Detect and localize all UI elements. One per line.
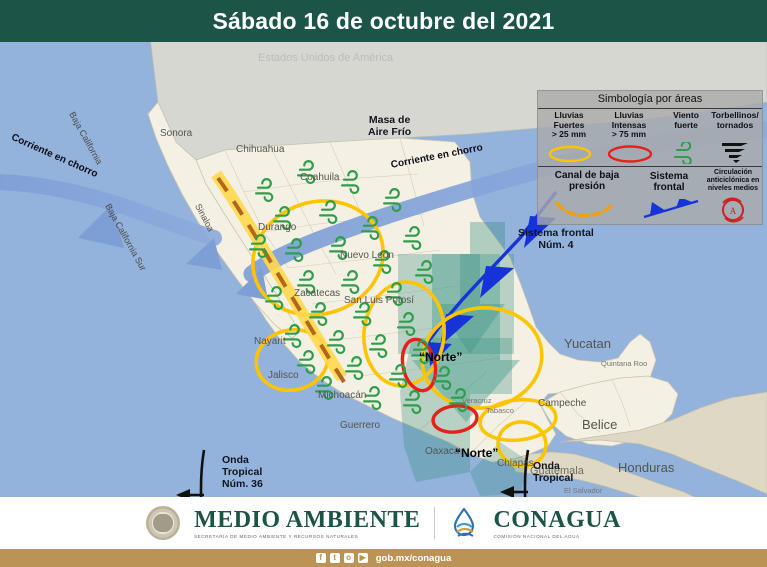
conagua-drop-icon [449, 507, 479, 539]
tornado-icon [720, 139, 750, 163]
twitter-glyph: t [330, 553, 340, 563]
footer-divider [434, 507, 435, 539]
legend-item-canal-baja-presion[interactable]: Canal de baja presión [540, 170, 634, 192]
yellow-ellipse-icon [548, 145, 592, 163]
ministry-logo: MEDIO AMBIENTE SECRETARÍA DE MEDIO AMBIE… [194, 508, 420, 539]
legend-row-bottom: Canal de baja presión Sistema frontal [538, 167, 762, 225]
legend-item-torbellinos-line2: tornados [710, 121, 760, 131]
legend-item-viento-fuerte[interactable]: Viento fuerte [662, 111, 710, 130]
agency-logo: CONAGUA COMISIÓN NACIONAL DEL AGUA [493, 508, 621, 539]
ministry-subtitle: SECRETARÍA DE MEDIO AMBIENTE Y RECURSOS … [194, 534, 420, 539]
legend-panel: Simbología por áreas Lluvias Fuertes > 2… [537, 90, 763, 225]
facebook-glyph: f [316, 553, 326, 563]
instagram-icon[interactable]: o [344, 553, 354, 563]
page-title: Sábado 16 de octubre del 2021 [0, 0, 767, 42]
red-ellipse-icon [607, 145, 653, 163]
youtube-glyph: ▶ [358, 553, 368, 563]
legend-item-sistema-frontal[interactable]: Sistema frontal [634, 171, 704, 193]
social-bar: f t o ▶ gob.mx/conagua [0, 549, 767, 567]
ministry-title: MEDIO AMBIENTE [194, 508, 420, 532]
legend-item-viento-fuerte-line2: fuerte [662, 121, 710, 131]
twitter-icon[interactable]: t [330, 553, 340, 563]
youtube-icon[interactable]: ▶ [358, 553, 368, 563]
weather-map-page: Sábado 16 de octubre del 2021 [0, 0, 767, 567]
wind-swirl-icon [674, 142, 700, 164]
legend-item-sistema-frontal-line1: Sistema [634, 171, 704, 182]
legend-item-lluvias-fuertes[interactable]: Lluvias Fuertes > 25 mm [540, 111, 598, 140]
map-canvas[interactable]: Estados Unidos de América Baja Californi… [0, 42, 767, 497]
legend-item-sistema-frontal-line2: frontal [634, 182, 704, 193]
dashed-orange-arc-icon [554, 199, 616, 221]
legend-item-torbellinos[interactable]: Torbellinos/ tornados [710, 111, 760, 130]
agency-title: CONAGUA [493, 508, 621, 532]
header-bar: Sábado 16 de octubre del 2021 [0, 0, 767, 42]
instagram-glyph: o [344, 553, 354, 563]
legend-item-lluvias-intensas[interactable]: Lluvias Intensas > 75 mm [598, 111, 660, 140]
legend-item-lluvias-fuertes-line3: > 25 mm [540, 130, 598, 140]
legend-row-top: Lluvias Fuertes > 25 mm Lluvias Intensas… [538, 109, 762, 167]
legend-title: Simbología por áreas [538, 91, 762, 109]
legend-item-circulacion-line3: niveles medios [704, 185, 762, 193]
svg-text:A: A [730, 206, 737, 216]
agency-subtitle: COMISIÓN NACIONAL DEL AGUA [493, 534, 621, 539]
legend-item-canal-line2: presión [540, 181, 634, 192]
gob-url-label[interactable]: gob.mx/conagua [376, 553, 451, 564]
legend-item-circulacion-line1: Circulación [704, 169, 762, 177]
mexico-coat-of-arms-icon [146, 506, 180, 540]
legend-item-lluvias-intensas-line3: > 75 mm [598, 130, 660, 140]
footer-bar: MEDIO AMBIENTE SECRETARÍA DE MEDIO AMBIE… [0, 497, 767, 549]
legend-item-circulacion-line2: anticiclónica en [704, 177, 762, 185]
anticyclone-A-icon: A [718, 197, 748, 223]
blue-front-triangles-icon [642, 199, 702, 221]
facebook-icon[interactable]: f [316, 553, 326, 563]
legend-item-canal-line1: Canal de baja [540, 170, 634, 181]
legend-item-circulacion-anticiclonica[interactable]: Circulación anticiclónica en niveles med… [704, 169, 762, 193]
